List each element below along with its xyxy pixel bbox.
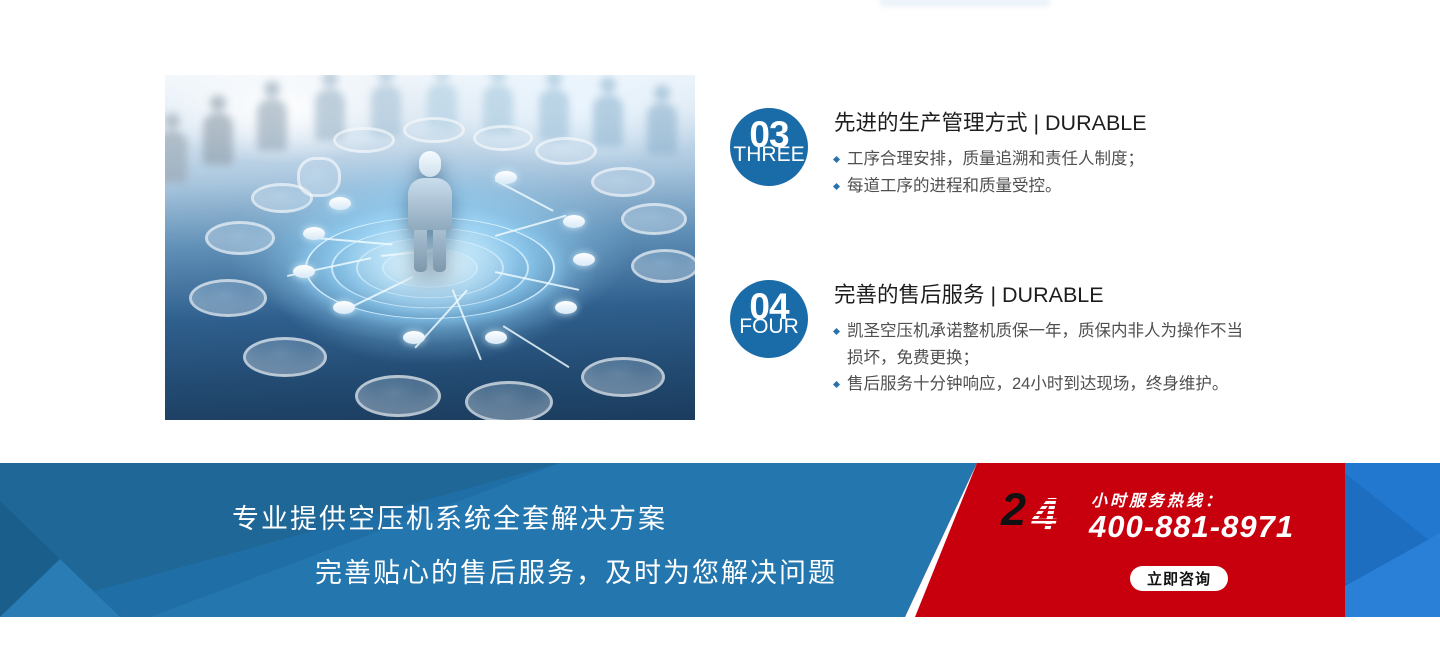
ring-shape — [189, 279, 267, 317]
logo-digit-2: 2 — [1001, 487, 1026, 532]
badge-03: 03 THREE — [730, 108, 808, 186]
ring-shape — [333, 127, 395, 153]
consult-now-button[interactable]: 立即咨询 — [1130, 566, 1228, 591]
feature-title: 完善的售后服务 | DURABLE — [834, 282, 1246, 309]
24-hour-logo-icon: 2 4 — [1001, 487, 1081, 535]
ring-shape — [621, 203, 687, 235]
network-node — [495, 171, 517, 184]
network-node — [303, 227, 325, 240]
ring-shape — [465, 381, 553, 420]
ring-shape — [473, 125, 533, 151]
hotline-caption: 小时服务热线： — [1091, 487, 1224, 511]
ring-shape — [355, 375, 441, 417]
hotline-phone-number: 400-881-8971 — [1089, 509, 1294, 545]
network-node — [293, 265, 315, 278]
feature-bullet: 凯圣空压机承诺整机质保一年，质保内非人为操作不当损坏，免费更换； — [834, 318, 1246, 371]
network-node — [563, 215, 585, 228]
ring-shape — [631, 249, 695, 283]
feature-text-04: 完善的售后服务 | DURABLE 凯圣空压机承诺整机质保一年，质保内非人为操作… — [834, 280, 1246, 398]
feature-text-03: 先进的生产管理方式 | DURABLE 工序合理安排，质量追溯和责任人制度； 每… — [834, 108, 1147, 199]
feature-block-04: 04 FOUR 完善的售后服务 | DURABLE 凯圣空压机承诺整机质保一年，… — [730, 280, 1250, 398]
ring-shape — [591, 167, 655, 197]
network-illustration-image — [165, 75, 695, 420]
slogan-line-1: 专业提供空压机系统全套解决方案 — [232, 497, 667, 536]
network-node — [485, 331, 507, 344]
badge-word: FOUR — [730, 316, 808, 337]
slogan-line-2: 完善贴心的售后服务，及时为您解决问题 — [315, 551, 837, 590]
feature-bullet: 售后服务十分钟响应，24小时到达现场，终身维护。 — [834, 371, 1246, 398]
badge-word: THREE — [730, 144, 808, 165]
banner-slogans: 专业提供空压机系统全套解决方案 完善贴心的售后服务，及时为您解决问题 — [0, 463, 1000, 617]
feature-bullet: 工序合理安排，质量追溯和责任人制度； — [834, 146, 1147, 173]
network-node — [555, 301, 577, 314]
person-figure-icon — [408, 151, 452, 272]
bottom-banner: 专业提供空压机系统全套解决方案 完善贴心的售后服务，及时为您解决问题 2 4 小… — [0, 463, 1440, 617]
badge-04: 04 FOUR — [730, 280, 808, 358]
network-node — [333, 301, 355, 314]
network-node — [329, 197, 351, 210]
feature-block-03: 03 THREE 先进的生产管理方式 | DURABLE 工序合理安排，质量追溯… — [730, 108, 1250, 199]
network-node — [573, 253, 595, 266]
top-residual-smudge — [880, 0, 1050, 10]
hotline-red-panel: 2 4 小时服务热线： 400-881-8971 — [905, 463, 1345, 617]
network-node — [403, 331, 425, 344]
ring-shape — [535, 137, 597, 165]
feature-bullet: 每道工序的进程和质量受控。 — [834, 173, 1147, 200]
logo-digit-4: 4 — [1032, 491, 1058, 537]
page-root: 03 THREE 先进的生产管理方式 | DURABLE 工序合理安排，质量追溯… — [0, 0, 1440, 663]
feature-title: 先进的生产管理方式 | DURABLE — [834, 110, 1147, 137]
feature-bullet-list: 工序合理安排，质量追溯和责任人制度； 每道工序的进程和质量受控。 — [834, 146, 1147, 199]
ring-shape — [403, 117, 465, 143]
feature-bullet-list: 凯圣空压机承诺整机质保一年，质保内非人为操作不当损坏，免费更换； 售后服务十分钟… — [834, 318, 1246, 398]
